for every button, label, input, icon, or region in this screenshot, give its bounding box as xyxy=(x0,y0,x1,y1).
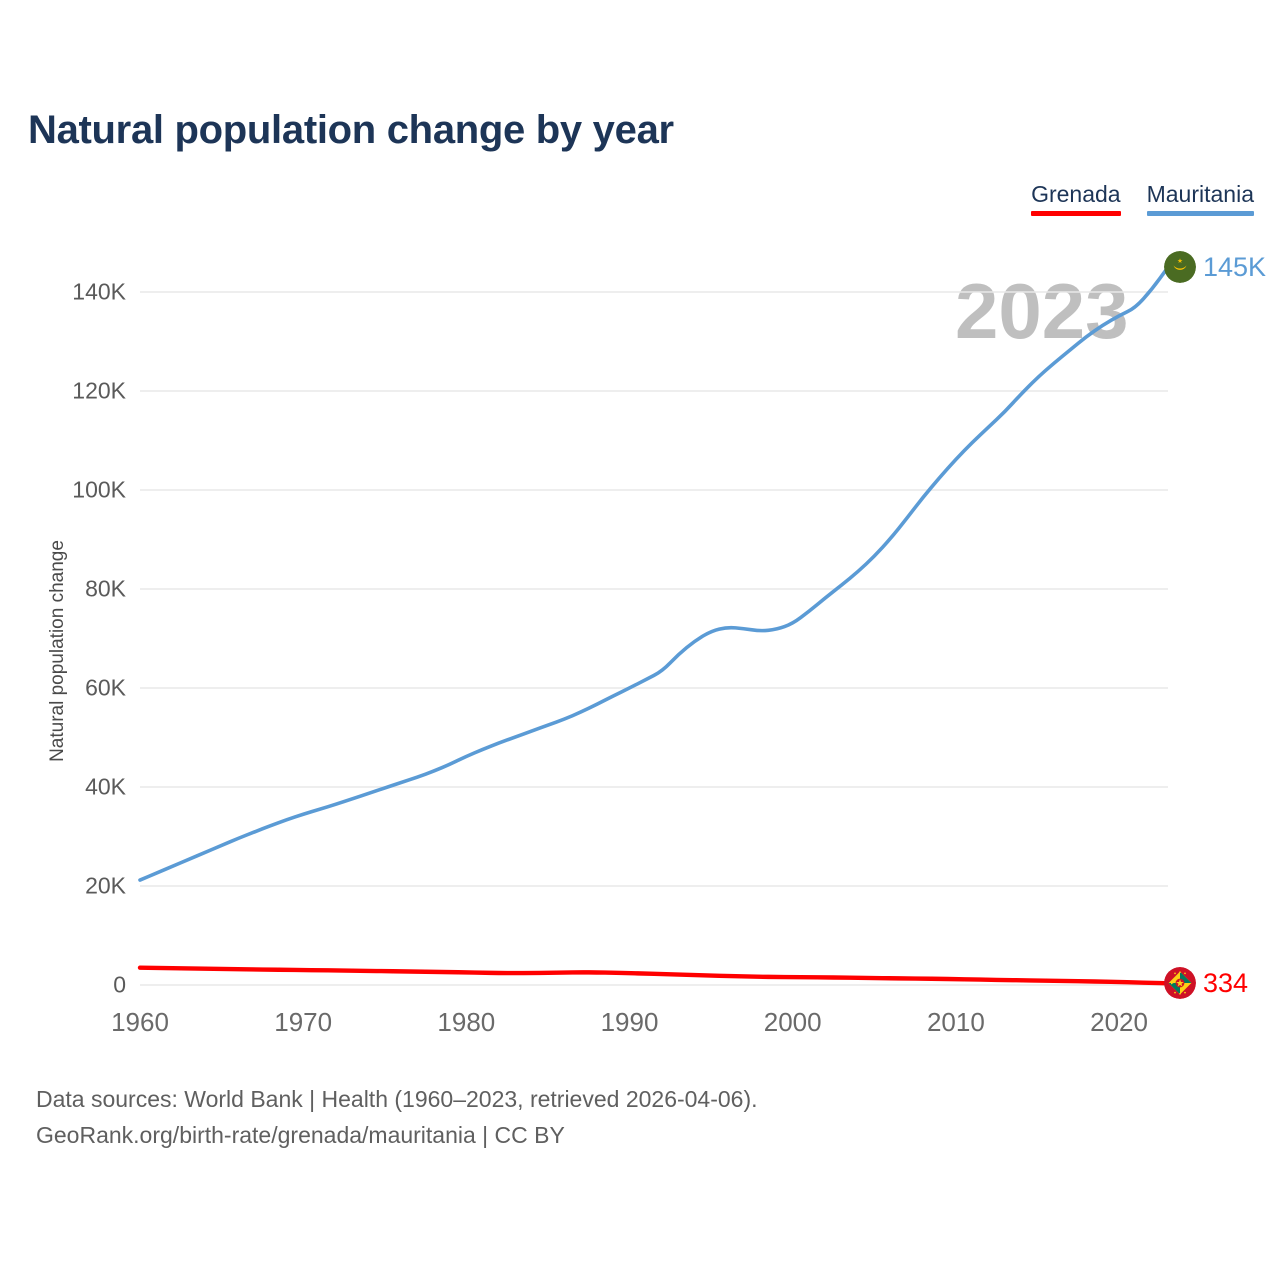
legend-color-swatch-grenada xyxy=(1031,211,1121,216)
y-axis-tick-60K: 60K xyxy=(0,675,126,702)
x-axis-tick-2010: 2010 xyxy=(927,1007,985,1038)
page-title: Natural population change by year xyxy=(28,108,674,153)
legend-item-grenada[interactable]: Grenada xyxy=(1031,182,1121,216)
x-axis-tick-2000: 2000 xyxy=(764,1007,822,1038)
legend-item-mauritania[interactable]: Mauritania xyxy=(1147,182,1254,216)
legend-color-swatch-mauritania xyxy=(1147,211,1254,216)
mauritania-flag-icon xyxy=(1164,251,1196,283)
mauritania-endpoint-value: 145K xyxy=(1203,252,1266,283)
legend-label-mauritania: Mauritania xyxy=(1147,182,1254,207)
x-axis-tick-1970: 1970 xyxy=(274,1007,332,1038)
legend: Grenada Mauritania xyxy=(1031,182,1254,216)
x-axis-tick-1960: 1960 xyxy=(111,1007,169,1038)
footer-attribution: GeoRank.org/birth-rate/grenada/mauritani… xyxy=(36,1118,758,1154)
y-axis-tick-120K: 120K xyxy=(0,378,126,405)
grenada-endpoint[interactable]: 334 xyxy=(1164,967,1248,999)
grenada-endpoint-value: 334 xyxy=(1203,968,1248,999)
footer-data-sources: Data sources: World Bank | Health (1960–… xyxy=(36,1082,758,1118)
x-axis-tick-1980: 1980 xyxy=(437,1007,495,1038)
y-axis-tick-40K: 40K xyxy=(0,774,126,801)
x-axis-tick-2020: 2020 xyxy=(1090,1007,1148,1038)
year-watermark: 2023 xyxy=(955,272,1129,350)
y-axis-tick-20K: 20K xyxy=(0,873,126,900)
chart-page: Natural population change by year Grenad… xyxy=(0,0,1280,1280)
grenada-flag-icon xyxy=(1164,967,1196,999)
footer: Data sources: World Bank | Health (1960–… xyxy=(36,1082,758,1153)
y-axis-label: Natural population change xyxy=(47,531,69,771)
legend-label-grenada: Grenada xyxy=(1031,182,1121,207)
y-axis-tick-100K: 100K xyxy=(0,477,126,504)
y-axis-tick-80K: 80K xyxy=(0,576,126,603)
y-axis-tick-0: 0 xyxy=(0,972,126,999)
y-axis-tick-140K: 140K xyxy=(0,279,126,306)
mauritania-endpoint[interactable]: 145K xyxy=(1164,251,1266,283)
x-axis-tick-1990: 1990 xyxy=(601,1007,659,1038)
